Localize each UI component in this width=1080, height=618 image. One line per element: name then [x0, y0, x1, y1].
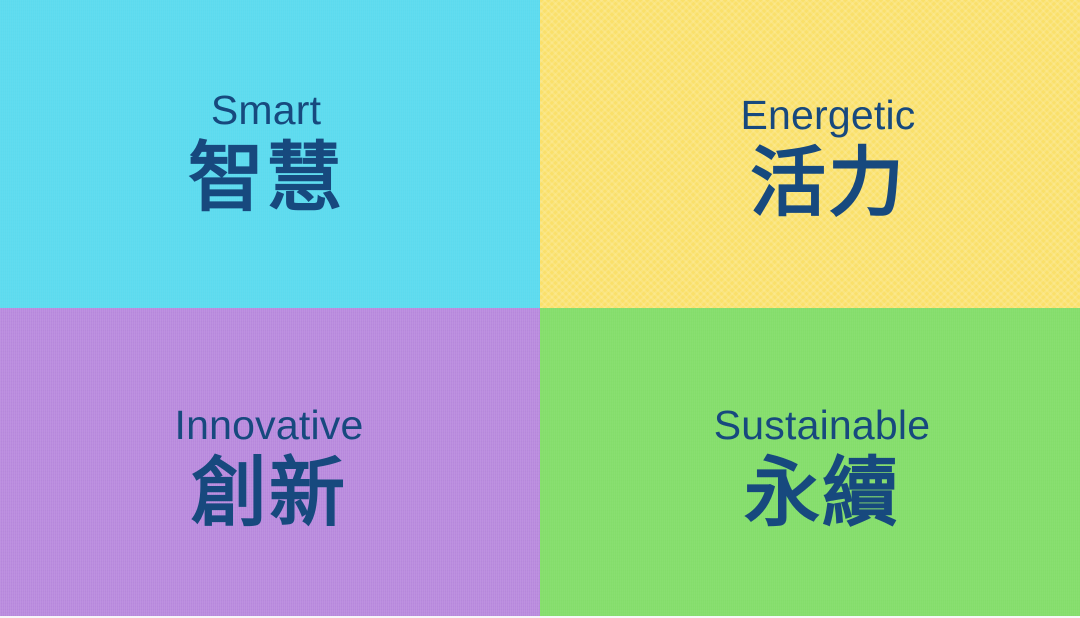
quadrant-innovative[interactable]: Innovative 創新 — [0, 308, 540, 616]
label-english-smart: Smart — [188, 89, 344, 132]
label-block-innovative: Innovative 創新 — [175, 404, 364, 536]
label-chinese-energetic: 活力 — [740, 141, 915, 226]
label-english-sustainable: Sustainable — [714, 404, 930, 447]
quadrant-energetic[interactable]: Energetic 活力 — [540, 0, 1080, 308]
label-chinese-smart: 智慧 — [188, 136, 344, 221]
label-block-energetic: Energetic 活力 — [740, 94, 915, 226]
label-block-sustainable: Sustainable 永續 — [714, 404, 930, 536]
label-english-energetic: Energetic — [740, 94, 915, 137]
values-grid: Smart 智慧 Energetic 活力 Innovative 創新 Sust… — [0, 0, 1080, 616]
label-chinese-sustainable: 永續 — [714, 451, 930, 536]
quadrant-smart[interactable]: Smart 智慧 — [0, 0, 540, 308]
label-chinese-innovative: 創新 — [175, 451, 364, 536]
quadrant-sustainable[interactable]: Sustainable 永續 — [540, 308, 1080, 616]
label-block-smart: Smart 智慧 — [188, 89, 344, 221]
label-english-innovative: Innovative — [175, 404, 364, 447]
